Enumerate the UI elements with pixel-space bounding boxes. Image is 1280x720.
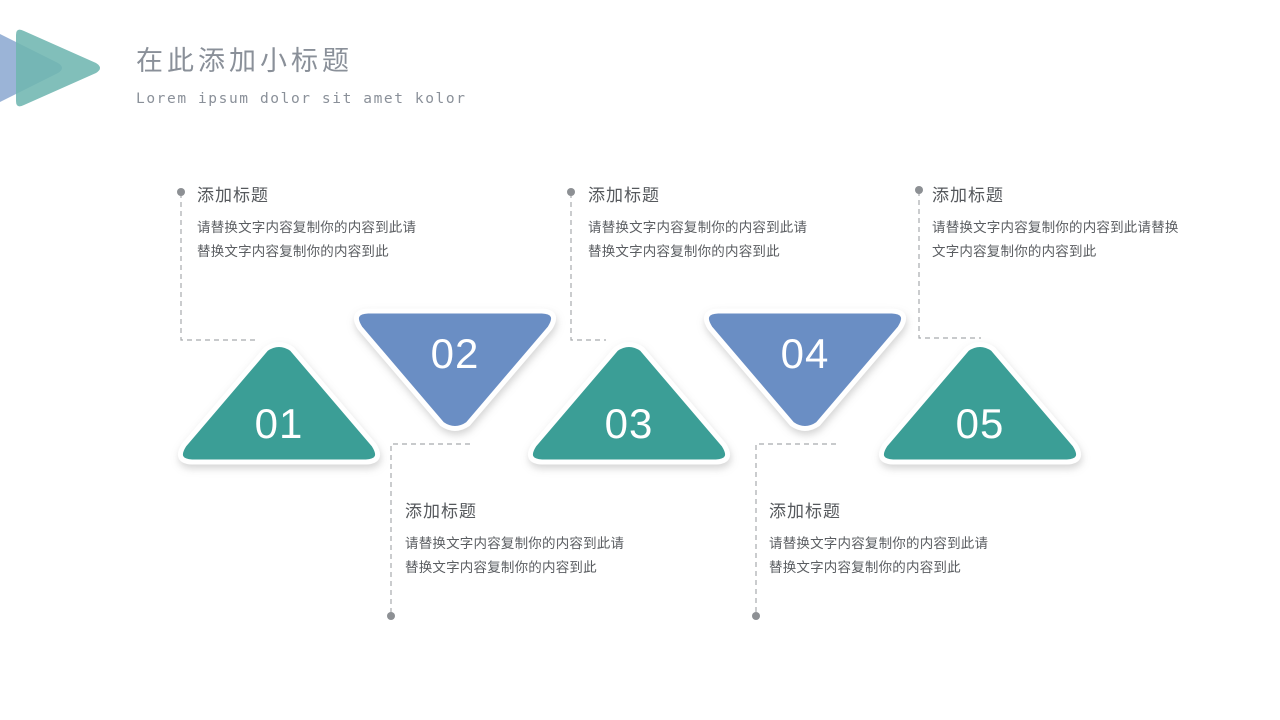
step-title-04: 添加标题 bbox=[769, 500, 989, 524]
step-body-01: 请替换文字内容复制你的内容到此请替换文字内容复制你的内容到此 bbox=[197, 216, 417, 264]
connector-dot-01 bbox=[177, 188, 185, 196]
step-title-03: 添加标题 bbox=[588, 184, 808, 208]
step-shape-05[interactable]: 05 bbox=[877, 341, 1083, 469]
step-number-05: 05 bbox=[877, 403, 1083, 445]
connector-dot-04 bbox=[752, 612, 760, 620]
connector-dot-02 bbox=[387, 612, 395, 620]
step-caption-01: 添加标题 请替换文字内容复制你的内容到此请替换文字内容复制你的内容到此 bbox=[197, 184, 417, 264]
process-diagram: 01 02 03 bbox=[0, 0, 1280, 720]
step-body-05: 请替换文字内容复制你的内容到此请替换文字内容复制你的内容到此 bbox=[932, 216, 1182, 264]
step-body-03: 请替换文字内容复制你的内容到此请替换文字内容复制你的内容到此 bbox=[588, 216, 808, 264]
connector-dot-05 bbox=[915, 186, 923, 194]
step-title-02: 添加标题 bbox=[405, 500, 625, 524]
step-caption-05: 添加标题 请替换文字内容复制你的内容到此请替换文字内容复制你的内容到此 bbox=[932, 184, 1182, 264]
step-body-04: 请替换文字内容复制你的内容到此请替换文字内容复制你的内容到此 bbox=[769, 532, 989, 580]
connector-dot-03 bbox=[567, 188, 575, 196]
step-caption-03: 添加标题 请替换文字内容复制你的内容到此请替换文字内容复制你的内容到此 bbox=[588, 184, 808, 264]
step-title-05: 添加标题 bbox=[932, 184, 1182, 208]
step-caption-04: 添加标题 请替换文字内容复制你的内容到此请替换文字内容复制你的内容到此 bbox=[769, 500, 989, 580]
step-body-02: 请替换文字内容复制你的内容到此请替换文字内容复制你的内容到此 bbox=[405, 532, 625, 580]
step-title-01: 添加标题 bbox=[197, 184, 417, 208]
step-caption-02: 添加标题 请替换文字内容复制你的内容到此请替换文字内容复制你的内容到此 bbox=[405, 500, 625, 580]
